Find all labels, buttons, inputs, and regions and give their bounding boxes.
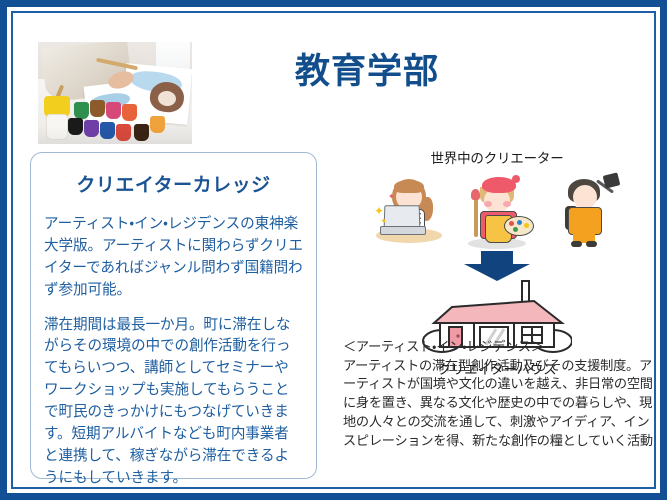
- paint-jar: [106, 102, 121, 119]
- laptop-keyboard-shape: [380, 226, 426, 235]
- beret-nub-shape: [512, 175, 520, 183]
- painting-photo: [38, 42, 192, 144]
- cheek-shape: [484, 201, 492, 207]
- sparkle-icon: ✦: [388, 193, 395, 201]
- creator-house-diagram: 世界中のクリエーター ✦ ✦ ✦: [337, 147, 657, 337]
- paint-jar: [74, 102, 89, 119]
- card-paragraph-2: 滞在期間は最長一か月。町に滞在しながらその環境の中での創作活動を行ってもらいつつ…: [44, 315, 303, 490]
- paintbrush-tip-shape: [471, 189, 480, 200]
- diagram-top-caption: 世界中のクリエーター: [337, 147, 657, 167]
- description-heading: ＜アーティスト・イン・レジデンス＞: [343, 338, 661, 357]
- palette-paint-dot: [509, 221, 514, 226]
- slide-frame: 教育学部 クリエイターカレッジ アーティスト・イン・レジデンスの東神楽大学版。ア…: [0, 0, 667, 500]
- artist-in-residence-description: ＜アーティスト・イン・レジデンス＞ アーティストの滞在型創作活動及びその支援制度…: [343, 338, 661, 450]
- shoe-shape: [586, 241, 597, 247]
- down-arrow-wrap: [337, 251, 657, 281]
- card-paragraph-1: アーティスト・イン・レジデンスの東神楽大学版。アーティストに関わらずクリエイター…: [44, 214, 303, 302]
- bangs-shape: [394, 180, 424, 193]
- palette-shape: [504, 216, 534, 236]
- slide-canvas: 教育学部 クリエイターカレッジ アーティスト・イン・レジデンスの東神楽大学版。ア…: [7, 7, 660, 493]
- creator-illustrations: ✦ ✦ ✦: [337, 169, 657, 249]
- painter-creator-icon: [460, 171, 534, 249]
- paint-jar: [122, 104, 137, 121]
- cheek-shape: [503, 201, 511, 207]
- shoe-shape: [571, 241, 582, 247]
- card-body: アーティスト・イン・レジデンスの東神楽大学版。アーティストに関わらずクリエイター…: [44, 214, 303, 490]
- palette-paint-dot: [517, 220, 522, 225]
- laptop-creator-icon: ✦ ✦ ✦: [372, 171, 446, 249]
- smartphone-shape: [603, 172, 621, 188]
- photo-vignette: [38, 126, 192, 144]
- beret-shape: [482, 177, 516, 193]
- palette-paint-dot: [524, 223, 529, 228]
- palette-paint-dot: [513, 227, 518, 232]
- paint-jar: [90, 100, 105, 117]
- page-title: 教育学部: [217, 53, 517, 92]
- down-arrow-icon: [337, 251, 657, 281]
- face-shape: [573, 185, 597, 209]
- creator-college-card: クリエイターカレッジ アーティスト・イン・レジデンスの東神楽大学版。アーティスト…: [30, 152, 317, 479]
- paintbrush-handle-shape: [474, 195, 478, 237]
- photographer-creator-icon: [548, 171, 622, 249]
- card-title: クリエイターカレッジ: [44, 170, 303, 197]
- sparkle-icon: ✦: [380, 217, 388, 226]
- description-body: アーティストの滞在型創作活動及びその支援制度。アーティストが国境や文化の違いを越…: [343, 357, 661, 451]
